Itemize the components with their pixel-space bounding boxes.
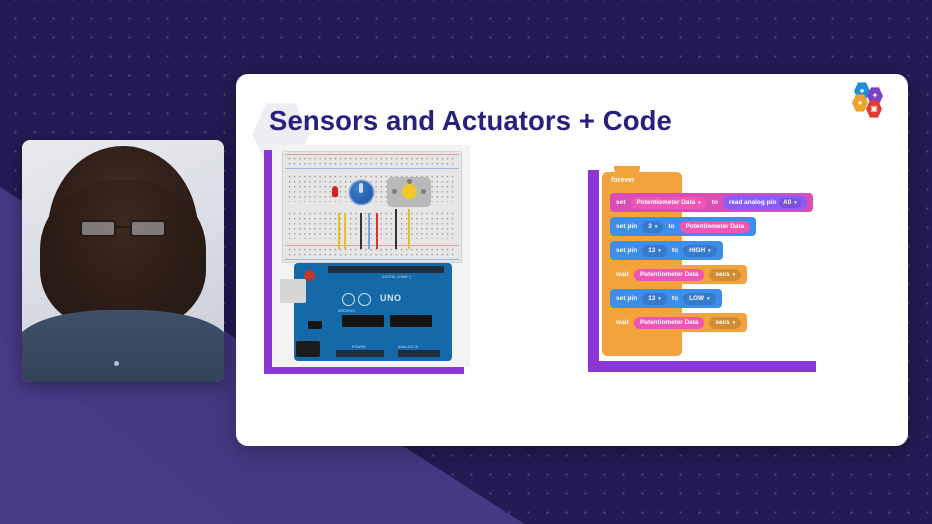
dropdown-value: secs bbox=[715, 319, 729, 326]
variable-token[interactable]: Potentiometer Data bbox=[634, 317, 705, 329]
breadboard bbox=[282, 151, 462, 263]
variable-token[interactable]: Potentiometer Data bbox=[680, 221, 751, 233]
dropdown-token[interactable]: 13▾ bbox=[642, 293, 667, 305]
dropdown-token[interactable]: secs▾ bbox=[709, 317, 741, 329]
dropdown-token[interactable]: secs▾ bbox=[709, 269, 741, 281]
block-keyword: to bbox=[672, 247, 678, 254]
block-wait-2[interactable]: waitPotentiometer Datasecs▾ bbox=[610, 313, 747, 332]
hexagon-logo-cluster: ● ✦ ● ▣ bbox=[848, 82, 892, 124]
analog-pins-label: ANALOG IN bbox=[398, 345, 418, 349]
block-keyword: set pin bbox=[616, 295, 637, 302]
chevron-down-icon: ▾ bbox=[794, 200, 797, 206]
potentiometer-component bbox=[350, 181, 373, 204]
dropdown-token[interactable]: 13▾ bbox=[642, 245, 667, 257]
reset-button bbox=[304, 270, 315, 281]
led-component bbox=[332, 186, 338, 197]
dropdown-token[interactable]: HIGH▾ bbox=[683, 245, 717, 257]
block-set-pin-13-high[interactable]: set pin13▾toHIGH▾ bbox=[610, 241, 723, 260]
chevron-down-icon: ▾ bbox=[708, 248, 711, 254]
board-model-label: UNO bbox=[380, 293, 402, 303]
block-set-pin-13-low[interactable]: set pin13▾toLOW▾ bbox=[610, 289, 722, 308]
dropdown-value: HIGH bbox=[689, 247, 705, 254]
usb-port bbox=[280, 279, 306, 303]
chevron-down-icon: ▾ bbox=[733, 320, 736, 326]
dropdown-value: Potentiometer Data bbox=[637, 199, 696, 206]
block-keyword: set pin bbox=[616, 223, 637, 230]
block-keyword: to bbox=[712, 199, 718, 206]
presenter-hair-front bbox=[40, 180, 206, 330]
dropdown-value: 13 bbox=[648, 295, 655, 302]
dropdown-value: 13 bbox=[648, 247, 655, 254]
arduino-breadboard-photo: UNO ARDUINO DIGITAL (PWM~) POWER ANALOG … bbox=[272, 145, 470, 367]
block-code-program: forever setPotentiometer Data▾toread ana… bbox=[594, 166, 816, 364]
reporter-block[interactable]: read analog pinA0▾ bbox=[723, 195, 807, 210]
variable-token[interactable]: Potentiometer Data bbox=[634, 269, 705, 281]
presenter-glasses bbox=[80, 220, 166, 237]
chevron-down-icon: ▾ bbox=[658, 248, 661, 254]
dropdown-token[interactable]: LOW▾ bbox=[683, 293, 715, 305]
chevron-down-icon: ▾ bbox=[698, 200, 701, 206]
dropdown-token[interactable]: Potentiometer Data▾ bbox=[631, 197, 707, 209]
block-keyword: to bbox=[668, 223, 674, 230]
block-keyword: to bbox=[672, 295, 678, 302]
chevron-down-icon: ▾ bbox=[655, 224, 658, 230]
block-set-pin-3[interactable]: set pin3▾toPotentiometer Data bbox=[610, 217, 756, 236]
block-keyword: wait bbox=[616, 271, 629, 278]
block-notch bbox=[614, 166, 640, 174]
block-keyword: set bbox=[616, 199, 626, 206]
reporter-dropdown-value: A0 bbox=[783, 199, 791, 206]
dropdown-value: 3 bbox=[648, 223, 652, 230]
power-pins-label: POWER bbox=[352, 345, 366, 349]
power-jack bbox=[296, 341, 320, 357]
block-keyword: set pin bbox=[616, 247, 637, 254]
arduino-uno-board: UNO ARDUINO DIGITAL (PWM~) POWER ANALOG … bbox=[294, 263, 452, 361]
block-keyword: wait bbox=[616, 319, 629, 326]
block-set-variable[interactable]: setPotentiometer Data▾toread analog pinA… bbox=[610, 193, 813, 212]
page-title: Sensors and Actuators + Code bbox=[269, 105, 672, 137]
forever-label: forever bbox=[611, 177, 635, 184]
presentation-screen: Sensors and Actuators + Code ● ✦ ● ▣ bbox=[0, 0, 932, 524]
dropdown-value: secs bbox=[715, 271, 729, 278]
presenter-shirt bbox=[22, 310, 224, 382]
digital-pins-label: DIGITAL (PWM~) bbox=[382, 275, 411, 279]
chevron-down-icon: ▾ bbox=[658, 296, 661, 302]
reporter-label: read analog pin bbox=[729, 199, 776, 206]
chevron-down-icon: ▾ bbox=[733, 272, 736, 278]
dropdown-token[interactable]: 3▾ bbox=[642, 221, 663, 233]
block-wait-1[interactable]: waitPotentiometer Datasecs▾ bbox=[610, 265, 747, 284]
board-brand-label: ARDUINO bbox=[338, 309, 355, 313]
dropdown-value: LOW bbox=[689, 295, 704, 302]
reporter-dropdown[interactable]: A0▾ bbox=[779, 198, 801, 208]
presenter-video-tile[interactable] bbox=[22, 140, 224, 382]
slide-card: Sensors and Actuators + Code ● ✦ ● ▣ bbox=[236, 74, 908, 446]
servo-component bbox=[387, 177, 431, 207]
chevron-down-icon: ▾ bbox=[707, 296, 710, 302]
